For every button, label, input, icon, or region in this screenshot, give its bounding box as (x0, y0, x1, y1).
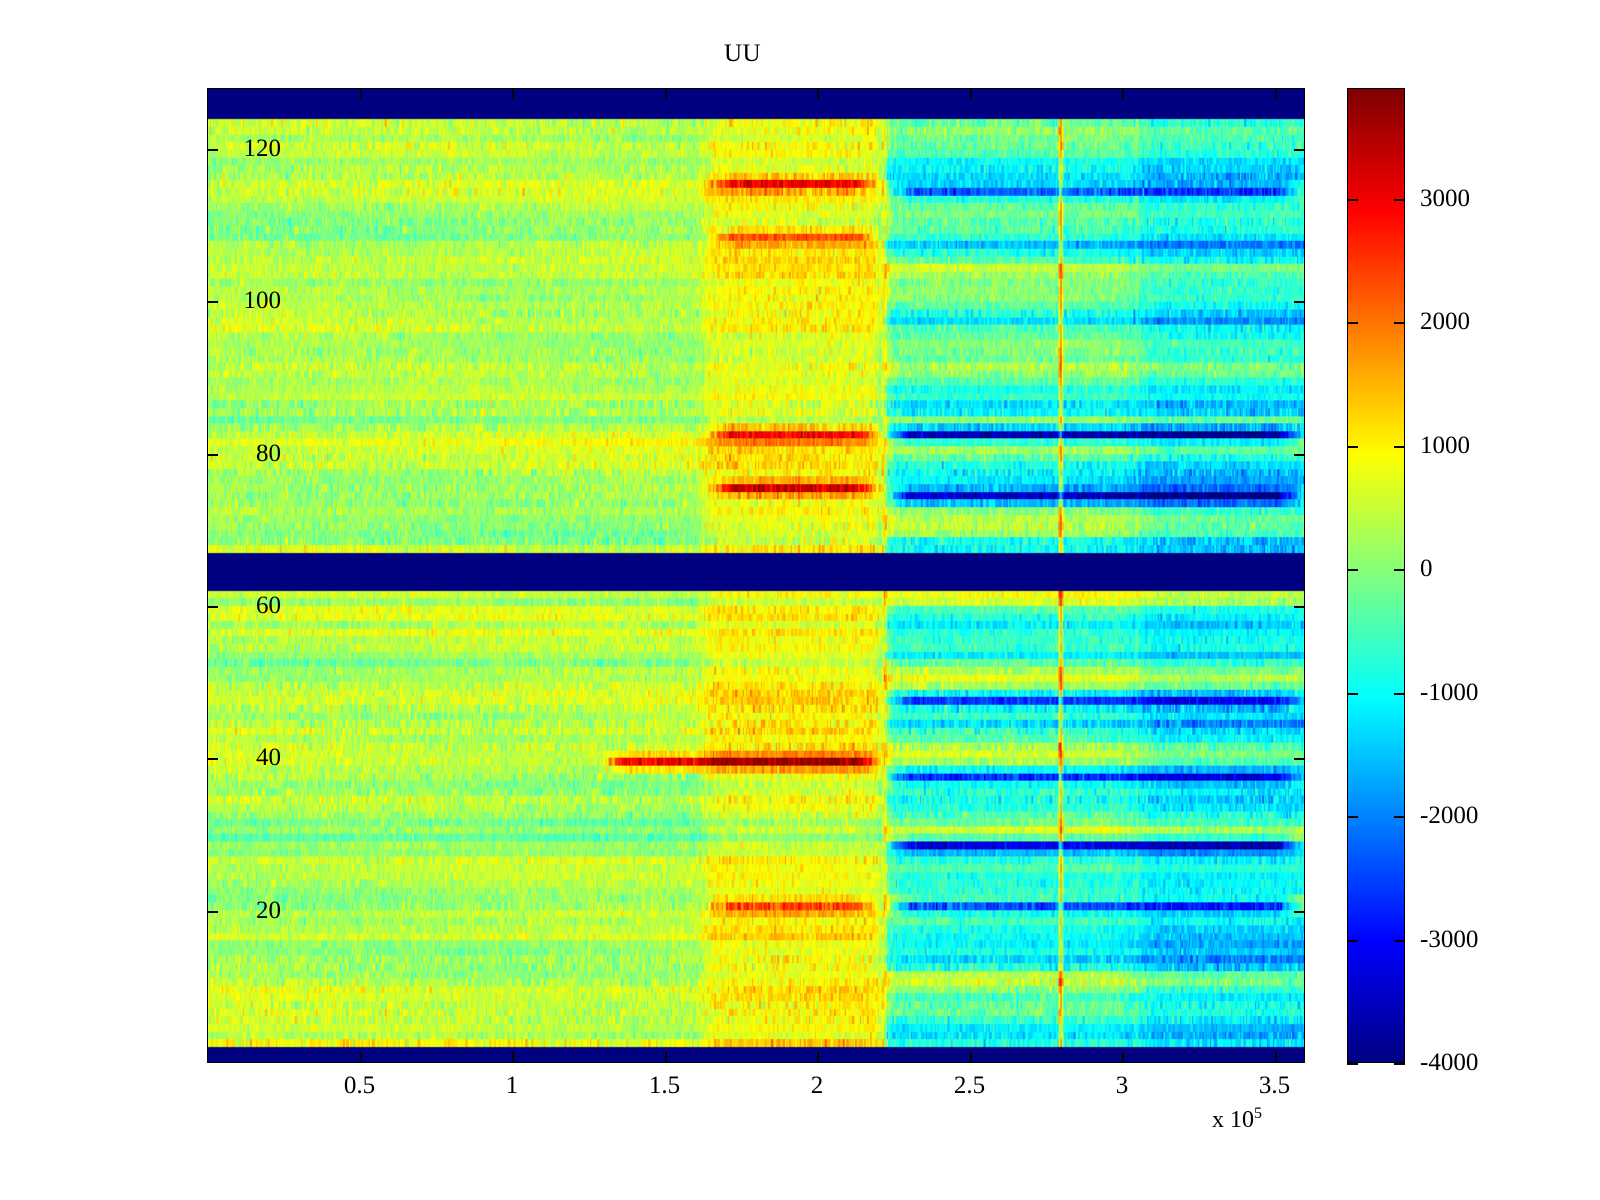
colorbar-tick (1347, 199, 1358, 201)
x-axis-tick-label: 2 (811, 1072, 824, 1100)
y-axis-tick (207, 911, 218, 913)
x-axis-tick-label: 1.5 (649, 1072, 680, 1100)
y-axis-tick-right (1294, 454, 1305, 456)
x-axis-tick (360, 1052, 362, 1063)
x-axis-tick (512, 1052, 514, 1063)
x-exponent-power: 5 (1254, 1105, 1262, 1122)
x-axis-tick (665, 1052, 667, 1063)
colorbar-tick-right (1394, 446, 1405, 448)
colorbar-tick (1347, 446, 1358, 448)
colorbar-tick-label: 0 (1420, 555, 1433, 583)
colorbar-tick (1347, 816, 1358, 818)
colorbar-tick (1347, 1063, 1358, 1065)
x-axis-tick-label: 3 (1116, 1072, 1129, 1100)
colorbar-tick (1347, 693, 1358, 695)
plot-title: UU (0, 40, 1485, 68)
y-axis-tick (207, 758, 218, 760)
y-axis-tick (207, 149, 218, 151)
x-axis-tick (1275, 1052, 1277, 1063)
colorbar-tick-right (1394, 322, 1405, 324)
y-axis-tick (207, 301, 218, 303)
colorbar-tick-right (1394, 199, 1405, 201)
heatmap-axes[interactable] (207, 88, 1305, 1063)
x-axis-tick (817, 1052, 819, 1063)
x-axis-tick-label: 1 (506, 1072, 519, 1100)
colorbar-tick-right (1394, 693, 1405, 695)
x-axis-tick (1122, 1052, 1124, 1063)
x-axis-tick-top (360, 88, 362, 99)
y-axis-tick-right (1294, 301, 1305, 303)
colorbar-tick-label: 3000 (1420, 185, 1470, 213)
colorbar-tick-right (1394, 940, 1405, 942)
y-axis-tick-label: 20 (256, 897, 281, 925)
colorbar-tick-label: -2000 (1420, 802, 1478, 830)
colorbar-tick-label: -4000 (1420, 1049, 1478, 1077)
colorbar-tick (1347, 322, 1358, 324)
y-axis-tick-right (1294, 758, 1305, 760)
colorbar-tick-label: 1000 (1420, 432, 1470, 460)
colorbar-tick-label: -1000 (1420, 679, 1478, 707)
colorbar[interactable] (1347, 88, 1405, 1063)
x-axis-tick-top (512, 88, 514, 99)
y-axis-tick (207, 606, 218, 608)
colorbar-tick-label: -3000 (1420, 926, 1478, 954)
y-axis-tick (207, 454, 218, 456)
matlab-figure: UU 120100806040200.511.522.533.5 x 105 3… (0, 0, 1600, 1200)
colorbar-tick-right (1394, 816, 1405, 818)
x-axis-tick-label: 0.5 (344, 1072, 375, 1100)
y-axis-tick-label: 60 (256, 592, 281, 620)
x-axis-tick-top (1122, 88, 1124, 99)
colorbar-tick-right (1394, 1063, 1405, 1065)
x-axis-tick-top (1275, 88, 1277, 99)
x-axis-tick-top (970, 88, 972, 99)
y-axis-tick-label: 100 (244, 287, 282, 315)
x-axis-tick-label: 2.5 (954, 1072, 985, 1100)
x-axis-tick-label: 3.5 (1259, 1072, 1290, 1100)
colorbar-tick-label: 2000 (1420, 308, 1470, 336)
y-axis-tick-label: 120 (244, 135, 282, 163)
y-axis-tick-label: 80 (256, 440, 281, 468)
y-axis-tick-right (1294, 606, 1305, 608)
x-axis-tick-top (817, 88, 819, 99)
colorbar-tick (1347, 569, 1358, 571)
y-axis-tick-right (1294, 149, 1305, 151)
colorbar-tick (1347, 940, 1358, 942)
x-exponent-base: x 10 (1212, 1107, 1254, 1133)
heatmap-image (208, 89, 1304, 1062)
x-axis-tick-top (665, 88, 667, 99)
x-axis-tick (970, 1052, 972, 1063)
y-axis-tick-right (1294, 911, 1305, 913)
y-axis-tick-label: 40 (256, 744, 281, 772)
colorbar-tick-right (1394, 569, 1405, 571)
x-axis-exponent-label: x 105 (1212, 1105, 1262, 1134)
colorbar-gradient (1348, 89, 1405, 1063)
